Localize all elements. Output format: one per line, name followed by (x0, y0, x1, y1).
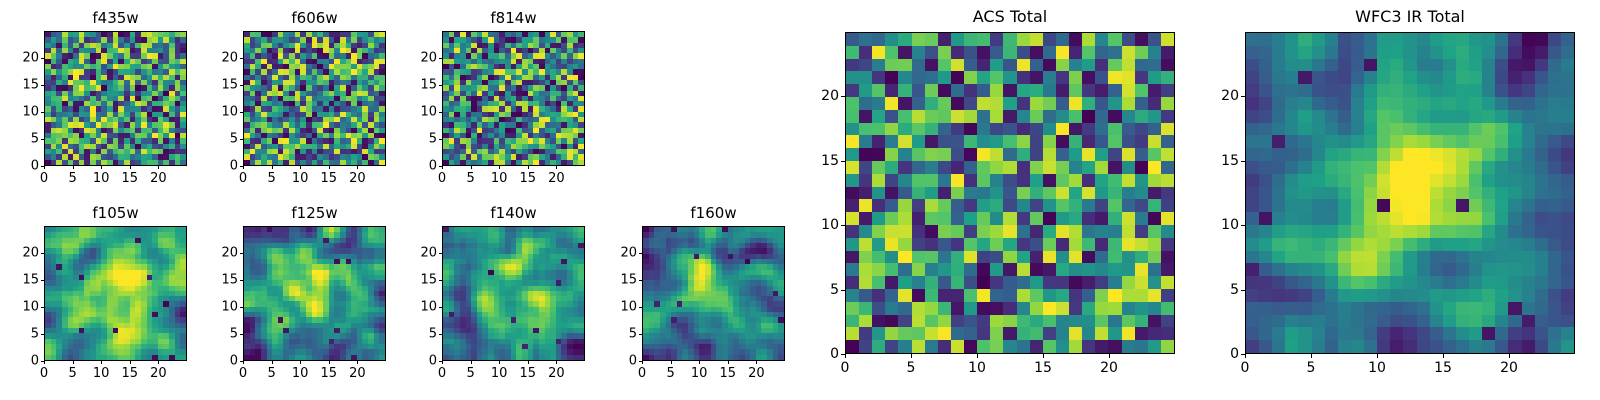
y-tick (1241, 290, 1245, 291)
heatmap-cells (244, 32, 385, 165)
x-tick-label: 0 (638, 366, 646, 381)
x-tick-label: 5 (68, 171, 76, 186)
x-tick (556, 166, 557, 169)
y-tick (240, 334, 243, 335)
x-tick (73, 166, 74, 169)
heatmap-f606w (243, 31, 386, 166)
x-tick-label: 15 (1034, 360, 1052, 376)
x-tick (101, 361, 102, 364)
x-tick-label: 15 (321, 171, 338, 186)
x-tick-label: 10 (93, 171, 110, 186)
y-tick (639, 361, 642, 362)
x-tick (130, 361, 131, 364)
panel-f606w: f606w0510152005101520 (243, 31, 386, 166)
y-tick (240, 307, 243, 308)
panel-title-f435w: f435w (44, 9, 187, 27)
y-tick (639, 280, 642, 281)
y-tick (1241, 96, 1245, 97)
x-tick-label: 10 (491, 366, 508, 381)
x-tick-label: 10 (491, 171, 508, 186)
y-tick (41, 58, 44, 59)
heatmap-f125w (243, 226, 386, 361)
y-tick-label: 20 (393, 246, 437, 261)
x-tick-label: 10 (691, 366, 708, 381)
y-tick-label: 15 (393, 273, 437, 288)
y-tick (841, 354, 845, 355)
y-tick-label: 15 (1195, 153, 1239, 169)
y-tick-label: 15 (393, 78, 437, 93)
y-tick-label: 0 (1195, 346, 1239, 362)
heatmap-f435w (44, 31, 187, 166)
y-tick (439, 334, 442, 335)
x-tick-label: 0 (239, 171, 247, 186)
y-tick-label: 5 (795, 282, 839, 298)
y-tick-label: 5 (393, 132, 437, 147)
y-tick-label: 10 (393, 300, 437, 315)
x-tick-label: 10 (292, 366, 309, 381)
y-tick-label: 20 (194, 51, 238, 66)
y-tick-label: 10 (393, 105, 437, 120)
y-tick-label: 10 (795, 217, 839, 233)
x-tick-label: 20 (548, 171, 565, 186)
heatmap-f814w (442, 31, 585, 166)
x-tick (1443, 354, 1444, 358)
y-tick (439, 58, 442, 59)
x-tick-label: 15 (720, 366, 737, 381)
y-tick-label: 5 (0, 132, 39, 147)
x-tick (499, 361, 500, 364)
x-tick-label: 0 (40, 171, 48, 186)
x-tick (300, 361, 301, 364)
y-tick-label: 20 (0, 246, 39, 261)
x-tick-label: 10 (1368, 360, 1386, 376)
y-tick-label: 15 (194, 78, 238, 93)
x-tick-label: 20 (349, 366, 366, 381)
y-tick (439, 85, 442, 86)
x-tick-label: 15 (122, 366, 139, 381)
y-tick-label: 15 (593, 273, 637, 288)
x-tick-label: 0 (1241, 360, 1250, 376)
x-tick (1043, 354, 1044, 358)
y-tick-label: 15 (0, 78, 39, 93)
x-tick (1109, 354, 1110, 358)
y-tick (41, 361, 44, 362)
x-tick-label: 15 (321, 366, 338, 381)
y-tick (41, 139, 44, 140)
x-tick-label: 15 (520, 366, 537, 381)
heatmap-cells (443, 32, 584, 165)
x-tick-label: 0 (40, 366, 48, 381)
x-tick (73, 361, 74, 364)
x-tick-label: 15 (520, 171, 537, 186)
panel-f160w: f160w0510152005101520 (642, 226, 785, 361)
y-tick-label: 5 (393, 327, 437, 342)
y-tick-label: 20 (0, 51, 39, 66)
x-tick-label: 20 (1100, 360, 1118, 376)
y-tick-label: 10 (593, 300, 637, 315)
x-tick (357, 166, 358, 169)
y-tick (841, 225, 845, 226)
x-tick (243, 361, 244, 364)
x-tick-label: 5 (68, 366, 76, 381)
x-tick (977, 354, 978, 358)
y-tick (639, 334, 642, 335)
panel-f105w: f105w0510152005101520 (44, 226, 187, 361)
y-tick (439, 280, 442, 281)
y-tick (639, 307, 642, 308)
y-tick (41, 280, 44, 281)
y-tick (439, 361, 442, 362)
x-tick (300, 166, 301, 169)
panel-wfc3ir_total: WFC3 IR Total0510152005101520 (1245, 32, 1575, 354)
y-tick-label: 10 (194, 300, 238, 315)
y-tick-label: 0 (194, 354, 238, 369)
x-tick-label: 20 (150, 366, 167, 381)
y-tick-label: 0 (0, 354, 39, 369)
x-tick-label: 0 (841, 360, 850, 376)
y-tick (841, 290, 845, 291)
heatmap-cells (1246, 33, 1574, 353)
heatmap-cells (45, 227, 186, 360)
heatmap-cells (45, 32, 186, 165)
y-tick-label: 15 (795, 153, 839, 169)
x-tick-label: 5 (907, 360, 916, 376)
y-tick (41, 307, 44, 308)
x-tick (130, 166, 131, 169)
y-tick (41, 334, 44, 335)
y-tick-label: 10 (194, 105, 238, 120)
y-tick (240, 361, 243, 362)
y-tick-label: 15 (0, 273, 39, 288)
panel-title-f160w: f160w (642, 204, 785, 222)
y-tick-label: 0 (194, 159, 238, 174)
panel-f125w: f125w0510152005101520 (243, 226, 386, 361)
y-tick (240, 85, 243, 86)
panel-title-wfc3ir_total: WFC3 IR Total (1245, 7, 1575, 26)
panel-title-f125w: f125w (243, 204, 386, 222)
x-tick (1245, 354, 1246, 358)
y-tick-label: 5 (0, 327, 39, 342)
x-tick (845, 354, 846, 358)
x-tick-label: 20 (748, 366, 765, 381)
x-tick (471, 166, 472, 169)
heatmap-f105w (44, 226, 187, 361)
x-tick (699, 361, 700, 364)
x-tick-label: 5 (267, 366, 275, 381)
y-tick (240, 280, 243, 281)
y-tick (41, 112, 44, 113)
panel-title-acs_total: ACS Total (845, 7, 1175, 26)
x-tick (272, 361, 273, 364)
panel-title-f814w: f814w (442, 9, 585, 27)
x-tick-label: 5 (666, 366, 674, 381)
panel-f435w: f435w0510152005101520 (44, 31, 187, 166)
x-tick-label: 5 (267, 171, 275, 186)
panel-acs_total: ACS Total0510152005101520 (845, 32, 1175, 354)
x-tick (556, 361, 557, 364)
y-tick (41, 166, 44, 167)
y-tick (439, 166, 442, 167)
panel-f140w: f140w0510152005101520 (442, 226, 585, 361)
y-tick-label: 0 (593, 354, 637, 369)
y-tick-label: 5 (593, 327, 637, 342)
x-tick-label: 10 (292, 171, 309, 186)
x-tick (471, 361, 472, 364)
y-tick (240, 139, 243, 140)
x-tick (243, 166, 244, 169)
x-tick-label: 10 (93, 366, 110, 381)
y-tick-label: 0 (393, 354, 437, 369)
x-tick (499, 166, 500, 169)
x-tick-label: 0 (239, 366, 247, 381)
y-tick (439, 112, 442, 113)
x-tick (442, 361, 443, 364)
x-tick-label: 5 (1307, 360, 1316, 376)
y-tick (240, 58, 243, 59)
x-tick (1311, 354, 1312, 358)
y-tick-label: 20 (393, 51, 437, 66)
x-tick-label: 20 (150, 171, 167, 186)
x-tick-label: 20 (1500, 360, 1518, 376)
x-tick-label: 15 (122, 171, 139, 186)
x-tick (44, 166, 45, 169)
y-tick (41, 253, 44, 254)
y-tick-label: 20 (593, 246, 637, 261)
figure-canvas: f435w0510152005101520f606w05101520051015… (0, 0, 1600, 400)
x-tick (642, 361, 643, 364)
y-tick-label: 5 (194, 327, 238, 342)
x-tick (1509, 354, 1510, 358)
x-tick-label: 0 (438, 171, 446, 186)
panel-title-f140w: f140w (442, 204, 585, 222)
y-tick-label: 10 (0, 105, 39, 120)
y-tick (439, 307, 442, 308)
x-tick (44, 361, 45, 364)
y-tick (240, 112, 243, 113)
heatmap-acs_total (845, 32, 1175, 354)
x-tick (728, 361, 729, 364)
y-tick-label: 10 (1195, 217, 1239, 233)
x-tick (329, 361, 330, 364)
x-tick (329, 166, 330, 169)
y-tick (439, 139, 442, 140)
panel-f814w: f814w0510152005101520 (442, 31, 585, 166)
y-tick (41, 85, 44, 86)
x-tick (101, 166, 102, 169)
heatmap-cells (443, 227, 584, 360)
x-tick-label: 5 (466, 366, 474, 381)
x-tick-label: 0 (438, 366, 446, 381)
y-tick (1241, 161, 1245, 162)
y-tick-label: 5 (194, 132, 238, 147)
heatmap-wfc3ir_total (1245, 32, 1575, 354)
x-tick (911, 354, 912, 358)
x-tick-label: 20 (548, 366, 565, 381)
panel-title-f606w: f606w (243, 9, 386, 27)
y-tick (841, 96, 845, 97)
y-tick-label: 20 (1195, 88, 1239, 104)
x-tick (158, 361, 159, 364)
x-tick-label: 20 (349, 171, 366, 186)
y-tick (841, 161, 845, 162)
y-tick (1241, 354, 1245, 355)
x-tick-label: 5 (466, 171, 474, 186)
y-tick-label: 15 (194, 273, 238, 288)
y-tick (240, 253, 243, 254)
y-tick (439, 253, 442, 254)
y-tick-label: 10 (0, 300, 39, 315)
y-tick (240, 166, 243, 167)
x-tick (158, 166, 159, 169)
x-tick (528, 166, 529, 169)
heatmap-cells (846, 33, 1174, 353)
y-tick (639, 253, 642, 254)
y-tick-label: 5 (1195, 282, 1239, 298)
y-tick (1241, 225, 1245, 226)
x-tick (357, 361, 358, 364)
y-tick-label: 20 (795, 88, 839, 104)
x-tick-label: 15 (1434, 360, 1452, 376)
y-tick-label: 20 (194, 246, 238, 261)
x-tick (671, 361, 672, 364)
x-tick (272, 166, 273, 169)
x-tick (442, 166, 443, 169)
y-tick-label: 0 (795, 346, 839, 362)
heatmap-cells (643, 227, 784, 360)
x-tick (1377, 354, 1378, 358)
x-tick (756, 361, 757, 364)
x-tick (528, 361, 529, 364)
heatmap-f140w (442, 226, 585, 361)
x-tick-label: 10 (968, 360, 986, 376)
panel-title-f105w: f105w (44, 204, 187, 222)
heatmap-cells (244, 227, 385, 360)
y-tick-label: 0 (393, 159, 437, 174)
y-tick-label: 0 (0, 159, 39, 174)
heatmap-f160w (642, 226, 785, 361)
